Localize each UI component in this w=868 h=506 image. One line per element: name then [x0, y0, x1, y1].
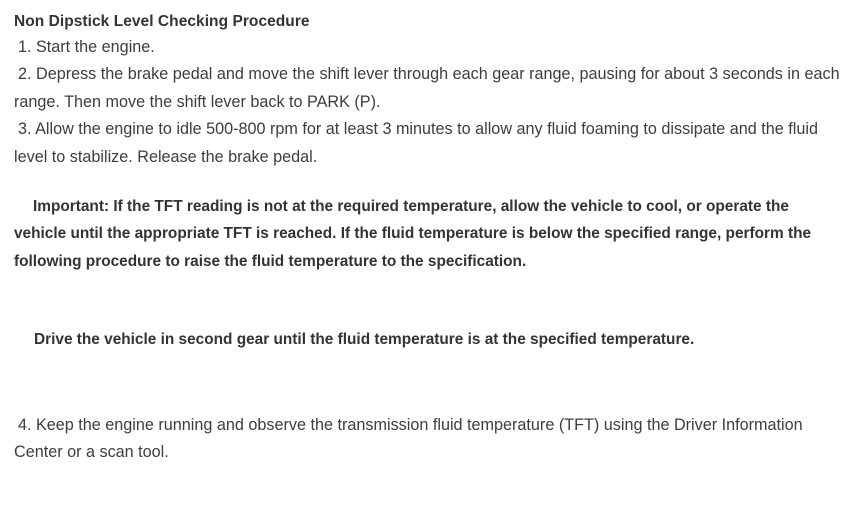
spacer — [14, 275, 854, 326]
spacer — [14, 354, 854, 412]
list-item: 4. Keep the engine running and observe t… — [14, 412, 814, 467]
procedure-step-list: 1. Start the engine. 2. Depress the brak… — [14, 34, 854, 171]
list-item: 2. Depress the brake pedal and move the … — [14, 61, 854, 116]
drive-instruction: Drive the vehicle in second gear until t… — [14, 326, 854, 353]
important-callout: Important: If the TFT reading is not at … — [14, 193, 844, 275]
list-item: 1. Start the engine. — [14, 34, 854, 61]
document-body: Non Dipstick Level Checking Procedure 1.… — [0, 0, 868, 506]
spacer — [14, 171, 854, 193]
page-title: Non Dipstick Level Checking Procedure — [14, 11, 854, 32]
list-item: 3. Allow the engine to idle 500-800 rpm … — [14, 116, 854, 171]
